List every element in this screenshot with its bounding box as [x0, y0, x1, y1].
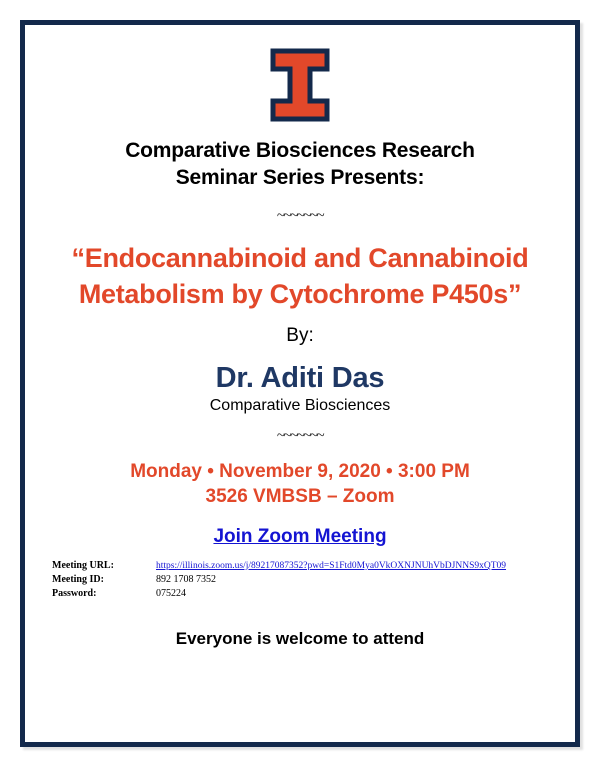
by-label: By:: [28, 325, 572, 347]
event-location: 3526 VMBSB – Zoom: [28, 484, 572, 509]
block-i-logo-icon: [270, 48, 330, 122]
series-title-line-1: Comparative Biosciences Research: [28, 138, 572, 165]
seminar-title-line-2: Metabolism by Cytochrome P450s”: [28, 276, 572, 312]
password-value: 075224: [156, 587, 506, 601]
meeting-url-hyperlink[interactable]: https://illinois.zoom.us/j/89217087352?p…: [156, 561, 506, 571]
table-row: Meeting ID: 892 1708 7352: [52, 573, 506, 587]
speaker-name: Dr. Aditi Das: [28, 362, 572, 395]
zoom-link-row: Join Zoom Meeting: [28, 509, 572, 548]
seminar-title-line-1: “Endocannabinoid and Cannabinoid: [28, 240, 572, 276]
meeting-details: Meeting URL: https://illinois.zoom.us/j/…: [52, 559, 572, 602]
meeting-id-label: Meeting ID:: [52, 573, 156, 587]
meeting-url-value: https://illinois.zoom.us/j/89217087352?p…: [156, 559, 506, 573]
series-title-line-2: Seminar Series Presents:: [28, 165, 572, 192]
series-title: Comparative Biosciences Research Seminar…: [28, 138, 572, 192]
poster-content: Comparative Biosciences Research Seminar…: [28, 28, 572, 739]
password-label: Password:: [52, 587, 156, 601]
meeting-details-table: Meeting URL: https://illinois.zoom.us/j/…: [52, 559, 506, 602]
speaker-affiliation: Comparative Biosciences: [28, 397, 572, 415]
footer-note: Everyone is welcome to attend: [28, 629, 572, 649]
seminar-title: “Endocannabinoid and Cannabinoid Metabol…: [28, 240, 572, 313]
logo-container: [28, 48, 572, 122]
seminar-flyer: Comparative Biosciences Research Seminar…: [0, 0, 600, 776]
table-row: Meeting URL: https://illinois.zoom.us/j/…: [52, 559, 506, 573]
meeting-id-value: 892 1708 7352: [156, 573, 506, 587]
divider-squiggle-top: ~~~~~~~: [28, 209, 572, 224]
table-row: Password: 075224: [52, 587, 506, 601]
event-datetime-location: Monday • November 9, 2020 • 3:00 PM 3526…: [28, 459, 572, 509]
meeting-url-label: Meeting URL:: [52, 559, 156, 573]
divider-squiggle-bottom: ~~~~~~~: [28, 429, 572, 444]
join-zoom-meeting-link[interactable]: Join Zoom Meeting: [213, 526, 386, 548]
event-datetime: Monday • November 9, 2020 • 3:00 PM: [28, 459, 572, 484]
